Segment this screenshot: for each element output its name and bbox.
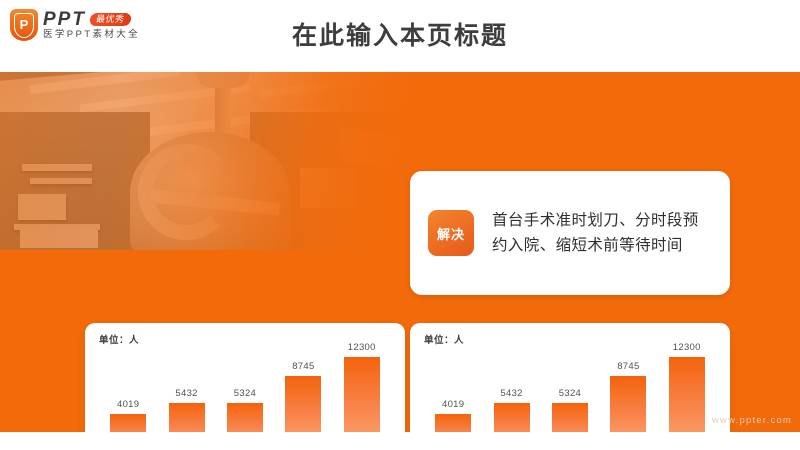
bar	[344, 357, 380, 432]
bar-group: 12300	[660, 342, 713, 432]
bar-group: 5432	[160, 342, 213, 432]
bar-group: 5324	[219, 342, 272, 432]
bar-chart-plot: 401954325324874512300	[424, 341, 716, 432]
solution-text: 首台手术准时划刀、分时段预约入院、缩短术前等待时间	[492, 208, 712, 258]
bar-value-label: 4019	[117, 399, 139, 410]
bar-value-label: 5432	[500, 388, 522, 399]
solution-badge: 解决	[428, 210, 474, 256]
bar-group: 8745	[277, 342, 330, 432]
bar	[610, 376, 646, 432]
bar-value-label: 5324	[559, 388, 581, 399]
bar	[552, 403, 588, 432]
bar	[110, 414, 146, 432]
bar-chart-plot: 401954325324874512300	[99, 341, 391, 432]
bar-group: 12300	[335, 342, 388, 432]
bar-value-label: 5432	[175, 388, 197, 399]
page-title: 在此输入本页标题	[0, 16, 800, 52]
bar	[669, 357, 705, 432]
bar	[285, 376, 321, 432]
bar-group: 4019	[102, 342, 155, 432]
bar	[227, 403, 263, 432]
bar-value-label: 12300	[348, 342, 376, 353]
bar-series: 401954325324874512300	[99, 342, 391, 432]
bar-group: 5324	[544, 342, 597, 432]
bar-series: 401954325324874512300	[424, 342, 716, 432]
bar	[494, 403, 530, 432]
bar-value-label: 8745	[292, 361, 314, 372]
bar-value-label: 8745	[617, 361, 639, 372]
solution-card: 解决 首台手术准时划刀、分时段预约入院、缩短术前等待时间	[410, 171, 730, 295]
page-header: P PPT 最优秀 医学PPT素材大全 在此输入本页标题	[0, 0, 800, 72]
orange-content-band: 解决 首台手术准时划刀、分时段预约入院、缩短术前等待时间 单位：人 401954…	[0, 72, 800, 432]
bar	[169, 403, 205, 432]
operating-room-photo	[0, 72, 420, 250]
bar-group: 8745	[602, 342, 655, 432]
chart-panel-2022: 单位：人 401954325324874512300 0-20岁20-40岁40…	[410, 323, 730, 432]
bar-value-label: 12300	[673, 342, 701, 353]
bar-value-label: 4019	[442, 399, 464, 410]
bar-group: 4019	[427, 342, 480, 432]
bar-value-label: 5324	[234, 388, 256, 399]
bar	[435, 414, 471, 432]
site-watermark: www.ppter.com	[712, 415, 792, 426]
chart-panel-2021: 单位：人 401954325324874512300 0-20岁20-40岁40…	[85, 323, 405, 432]
bar-group: 5432	[485, 342, 538, 432]
